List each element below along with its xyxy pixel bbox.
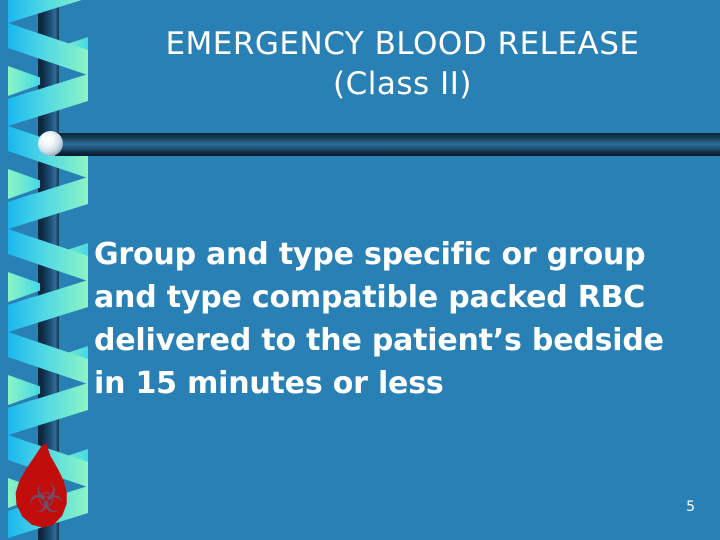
body-line: in 15 minutes or less — [94, 362, 694, 405]
slide-body-text: Group and type specific or group and typ… — [94, 233, 694, 405]
body-line: and type compatible packed RBC — [94, 276, 694, 319]
ribbon-front-lower — [8, 0, 88, 23]
ribbon-front-upper — [8, 229, 88, 281]
ribbon-front-overlay — [0, 229, 95, 332]
ribbon-front-overlay — [0, 23, 95, 126]
slide-title: EMERGENCY BLOOD RELEASE (Class II) — [95, 24, 710, 104]
page-number: 5 — [686, 499, 695, 515]
ribbon-front-lower — [8, 177, 88, 229]
title-line-primary: EMERGENCY BLOOD RELEASE — [95, 24, 710, 64]
body-line: Group and type specific or group — [94, 233, 694, 276]
ribbon-front-overlay — [0, 332, 95, 435]
ribbon-front-lower — [8, 383, 88, 435]
slide-canvas: ☣ EMERGENCY BLOOD RELEASE (Class II) Gro… — [0, 0, 720, 540]
ribbon-front-lower — [8, 74, 88, 126]
blood-drop-icon: ☣ — [9, 443, 83, 535]
body-line: delivered to the patient’s bedside — [94, 319, 694, 362]
divider-sphere-icon — [38, 131, 63, 156]
blood-drop-emblem: ☣ — [22, 475, 70, 523]
ribbon-front-overlay — [0, 0, 95, 23]
ribbon-front-lower — [8, 280, 88, 332]
ribbon-front-upper — [8, 332, 88, 384]
title-line-secondary: (Class II) — [95, 64, 710, 104]
title-divider-bar — [55, 133, 720, 156]
ribbon-front-upper — [8, 23, 88, 75]
